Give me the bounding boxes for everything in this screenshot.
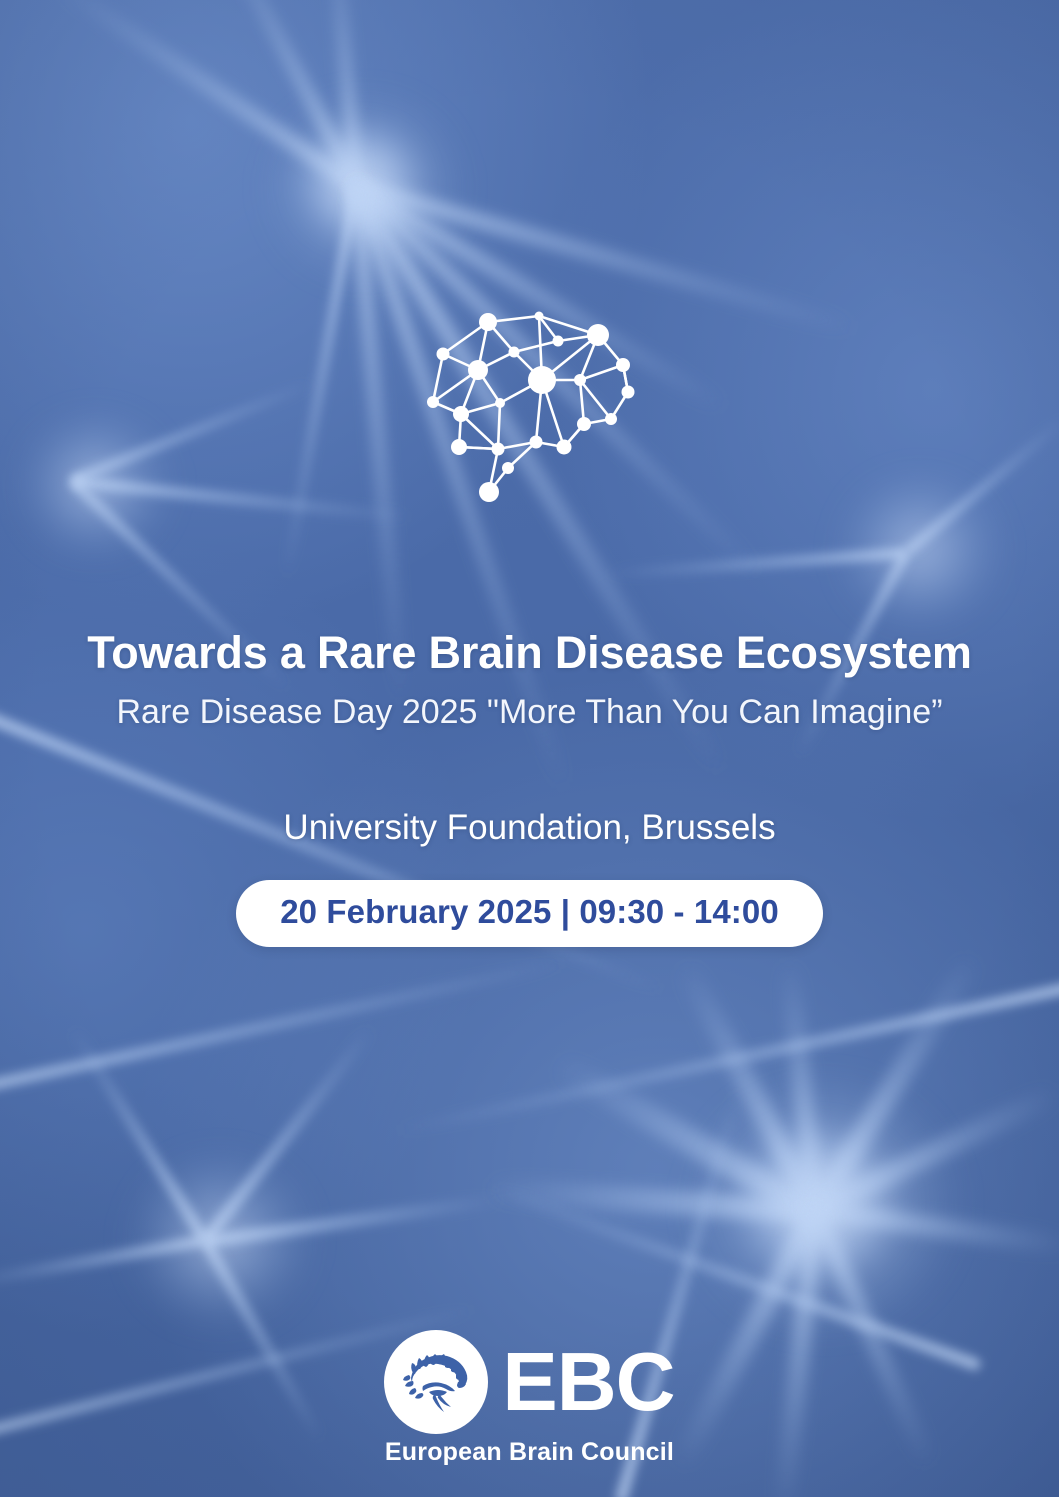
page-subtitle: Rare Disease Day 2025 "More Than You Can… (0, 692, 1059, 732)
brain-network-graphic (412, 292, 662, 512)
event-poster: Towards a Rare Brain Disease Ecosystem R… (0, 0, 1059, 1497)
ebc-logo-row: EBC (384, 1330, 674, 1434)
ebc-brain-icon (399, 1350, 473, 1414)
background-neuron-artwork (0, 0, 1059, 1497)
date-pill-container: 20 February 2025 | 09:30 - 14:00 (0, 880, 1059, 947)
venue-text: University Foundation, Brussels (0, 807, 1059, 849)
ebc-logo-circle (384, 1330, 488, 1434)
ebc-logo: EBC European Brain Council (0, 1330, 1059, 1467)
ebc-organisation-name: European Brain Council (385, 1438, 674, 1467)
page-title: Towards a Rare Brain Disease Ecosystem (0, 628, 1059, 678)
date-badge: 20 February 2025 | 09:30 - 14:00 (236, 880, 823, 947)
background-vignette (0, 0, 1059, 1497)
ebc-wordmark: EBC (502, 1346, 674, 1417)
date-time-text: 20 February 2025 | 09:30 - 14:00 (280, 893, 779, 930)
